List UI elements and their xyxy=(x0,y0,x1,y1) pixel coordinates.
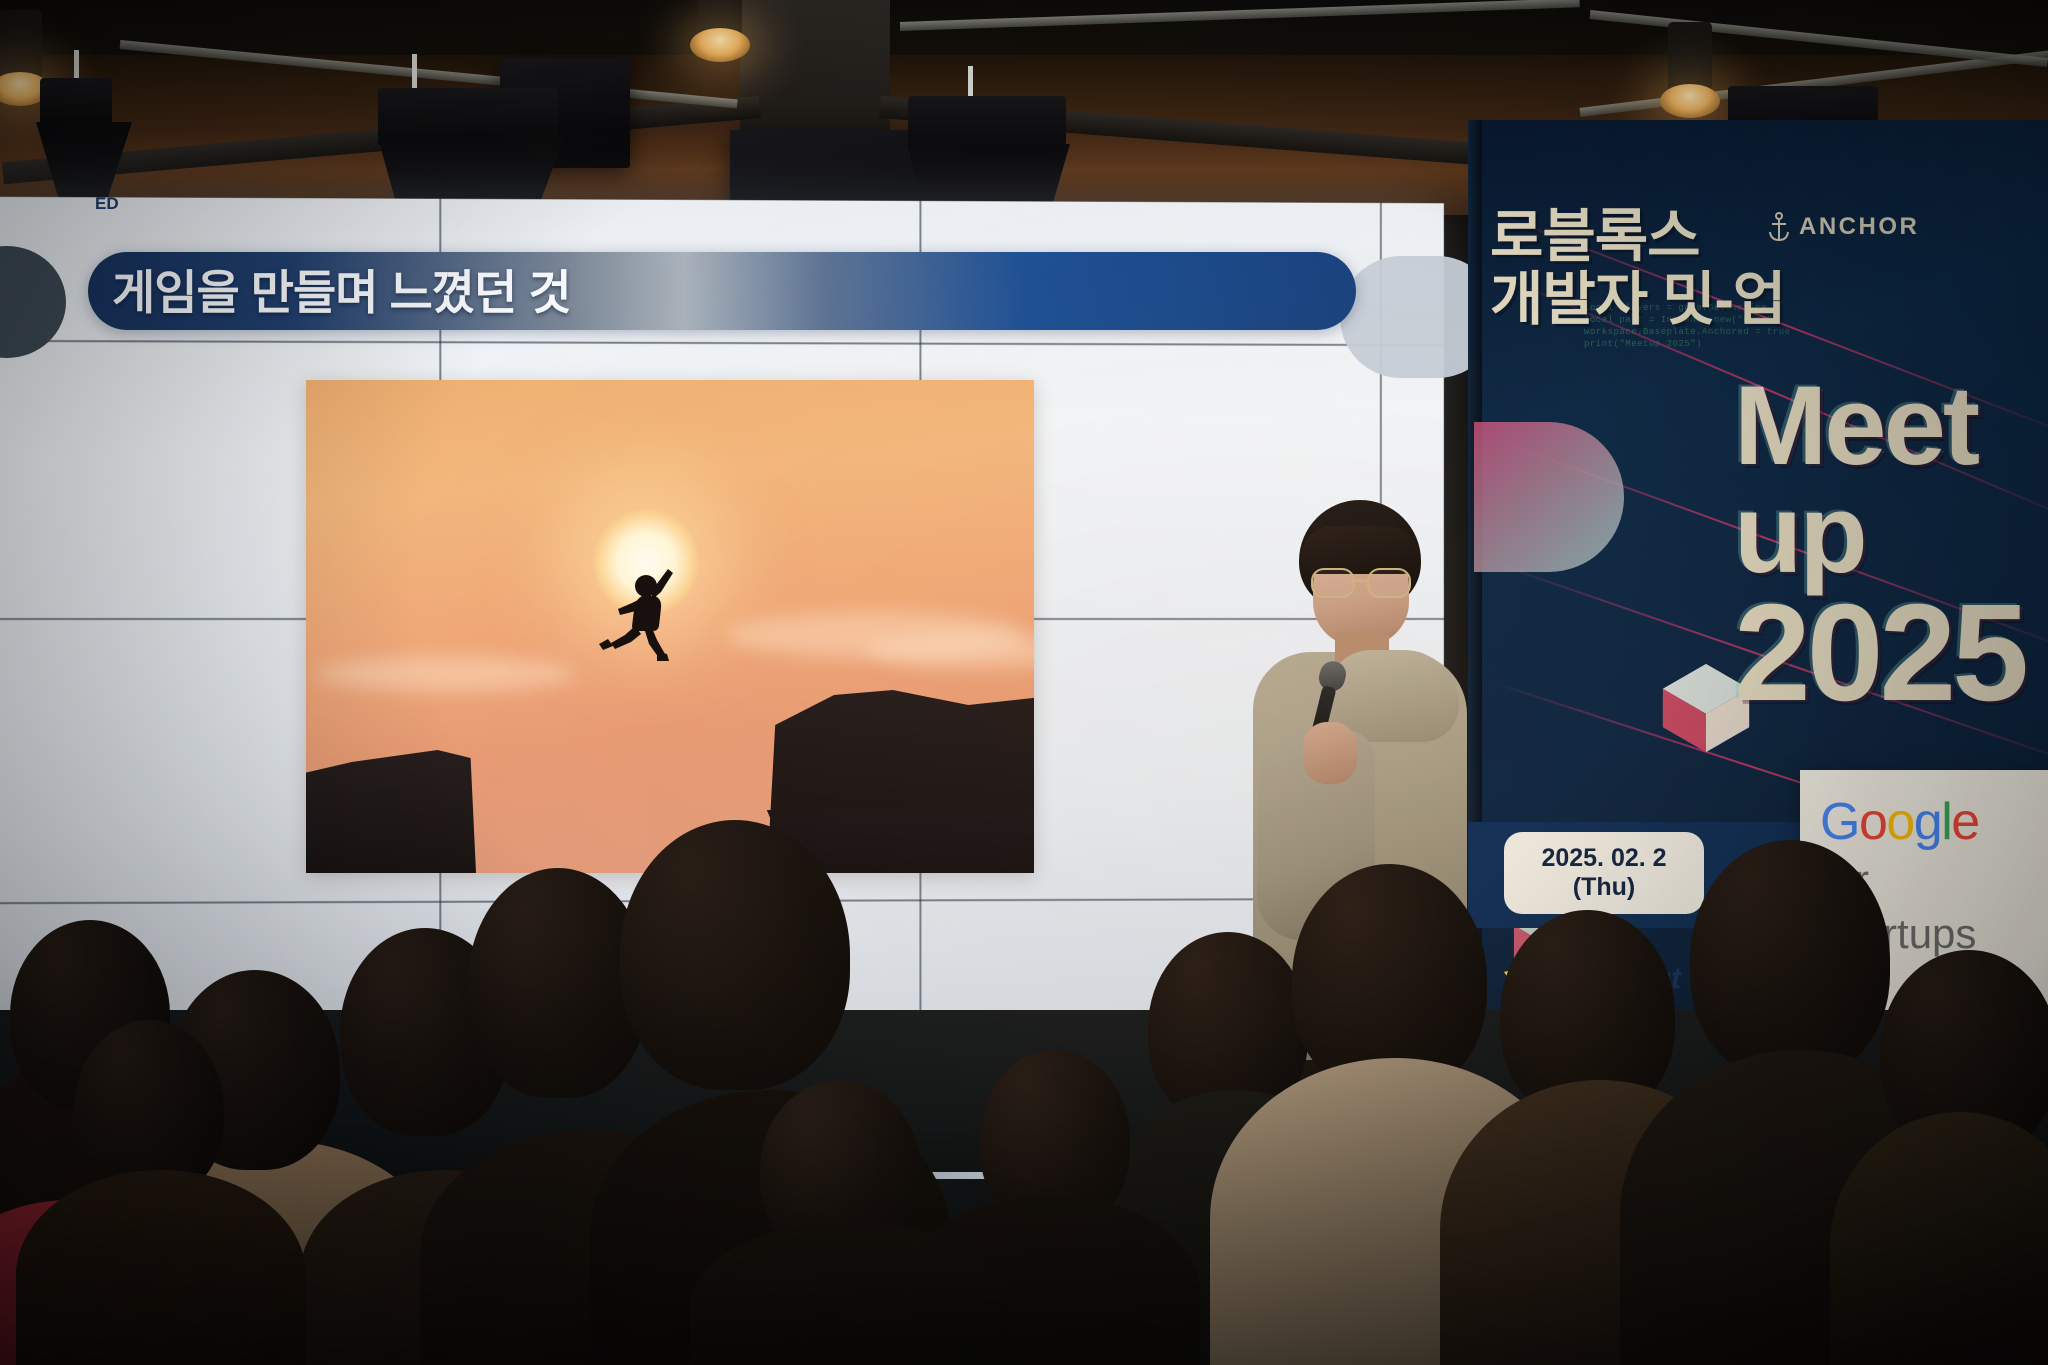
ceiling-truss-mid xyxy=(900,0,1580,31)
anchor-logo-text: ANCHOR xyxy=(1799,213,1919,241)
pendant-light-3-fixture xyxy=(1660,22,1720,118)
banner-korean-title: 로블록스 개발자 밋-업 xyxy=(1490,206,1785,331)
banner-headline-line1: Meet xyxy=(1734,372,2025,480)
slide-photo xyxy=(306,380,1034,873)
banner-headline: Meet up 2025 xyxy=(1734,372,2025,720)
banner-korean-line2: 개발자 밋-업 xyxy=(1490,269,1785,332)
banner-headline-line2: up xyxy=(1734,480,2025,588)
stage-light-can xyxy=(908,96,1066,152)
pendant-light-2-fixture xyxy=(690,0,750,62)
eyeglass-lens-right xyxy=(1367,568,1411,598)
audience-shoulder xyxy=(16,1170,306,1365)
stage-light-can xyxy=(378,88,558,146)
eyeglass-lens-left xyxy=(1311,568,1355,598)
presenter-hair-fringe xyxy=(1301,526,1419,574)
photo-jumping-silhouette xyxy=(592,542,704,682)
audience-head xyxy=(620,820,850,1090)
slide-title: 게임을 만들며 느꼈던 것 xyxy=(112,262,1312,324)
pendant-bulb xyxy=(690,28,750,62)
eyeglass-bridge xyxy=(1351,579,1367,582)
slide-corner-label: ED xyxy=(95,194,119,214)
banner-headline-line3: 2025 xyxy=(1734,587,2025,719)
audience-head xyxy=(1690,840,1890,1080)
stage-light-yoke xyxy=(412,54,417,92)
presenter-eyeglasses xyxy=(1311,568,1415,594)
photo-cloud-3 xyxy=(316,656,576,692)
presenter-hand xyxy=(1303,722,1357,784)
anchor-logo: ANCHOR xyxy=(1768,212,1919,242)
pendant-bulb xyxy=(1660,84,1720,118)
stage-light-yoke xyxy=(968,66,973,100)
screen-bezel-horizontal-1 xyxy=(0,340,1444,346)
banner-korean-line1: 로블록스 xyxy=(1490,206,1785,269)
audience xyxy=(0,840,2048,1365)
presentation-scene: ED 게임을 만들며 느꼈던 것 xyxy=(0,0,2048,1365)
